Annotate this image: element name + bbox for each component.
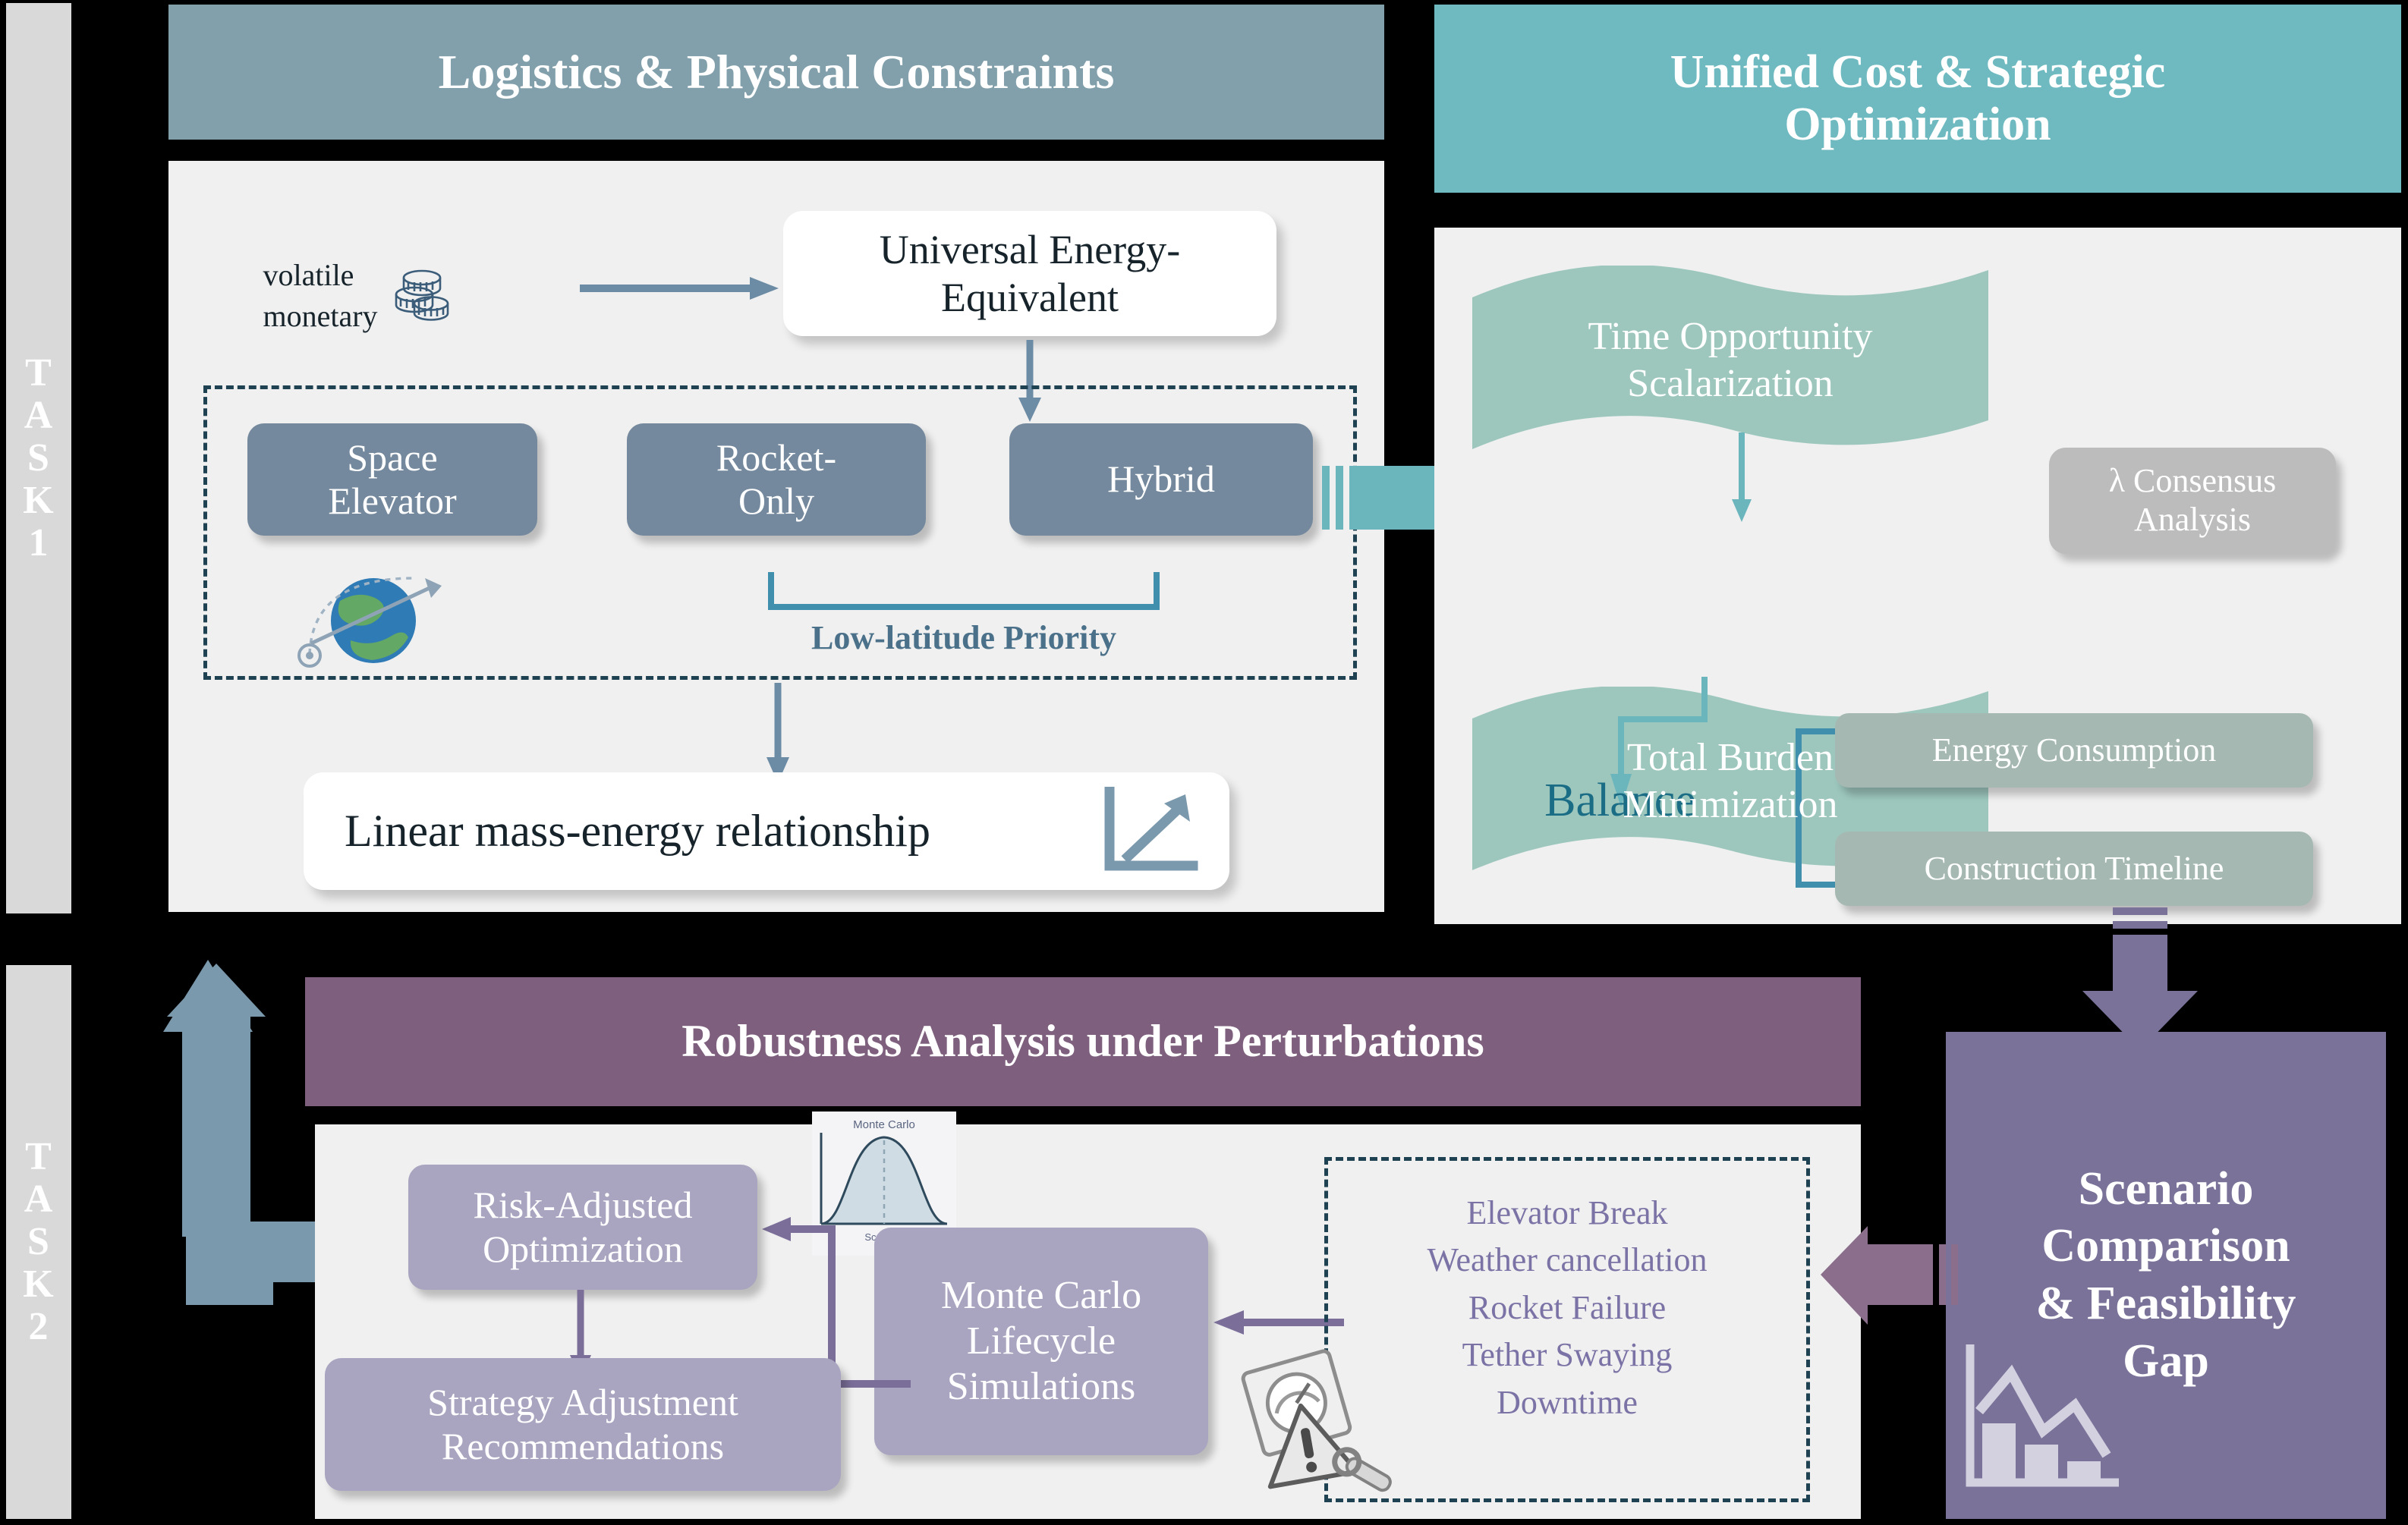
burst-line-2: monetary [263,296,377,337]
task2-to-task1-arrow-shape [163,948,315,1305]
energy-line-2: Equivalent [880,274,1180,321]
consensus-line-2: Analysis [2109,501,2277,539]
scenario-line-3: & Feasibility [2036,1275,2296,1333]
logistics-title: Logistics & Physical Constraints [439,45,1115,99]
option-label-line1: Hybrid [1107,457,1215,502]
task2-letter: K [23,1263,54,1306]
perturbation-item: Tether Swaying [1324,1332,1810,1379]
mc-line-1: Monte Carlo [941,1273,1141,1319]
time-opportunity-banner: Time Opportunity Scalarization [1472,266,1988,455]
coins-stack-icon [387,261,457,331]
scenario-line-1: Scenario [2036,1161,2296,1218]
output-energy-consumption: Energy Consumption [1835,713,2313,788]
task2-rail: T A S K 2 [6,965,71,1519]
task2-letter: T [25,1136,52,1178]
gauge-warning-tools-icon [1229,1343,1396,1506]
banner-line-1: Time Opportunity [1588,313,1872,360]
montecarlo-chart-title: Monte Carlo [853,1118,915,1131]
low-latitude-priority-label: Low-latitude Priority [721,618,1207,657]
output-construction-timeline: Construction Timeline [1835,832,2313,906]
task2-letter: S [27,1221,50,1263]
options-to-result-arrow [759,683,797,785]
option-space-elevator[interactable]: Space Elevator [247,423,537,536]
perturbation-item: Weather cancellation [1324,1237,1810,1284]
mc-line-2: Lifecycle [941,1319,1141,1364]
linear-mass-energy-label: Linear mass-energy relationship [314,805,930,857]
burst-line-1: volatile [263,255,377,296]
task2-letter: A [24,1178,54,1221]
risk-adjusted-optimization-box[interactable]: Risk-Adjusted Optimization [408,1165,757,1290]
lambda-consensus-box: λ Consensus Analysis [2049,448,2336,554]
strategy-line-2: Recommendations [427,1425,738,1469]
option-label-line1: Space [328,436,456,480]
growth-chart-icon [1102,787,1201,876]
output-label: Energy Consumption [1932,731,2216,770]
unified-panel-header: Unified Cost & Strategic Optimization [1434,5,2401,193]
task1-letter: S [27,437,50,480]
option-hybrid[interactable]: Hybrid [1009,423,1313,536]
task1-letter: 1 [29,522,49,564]
unified-to-scenario-arrow [2079,907,2201,1052]
option-label-line2: Elevator [328,480,456,524]
banner-chain-arrow [1723,432,1761,524]
output-label: Construction Timeline [1925,850,2224,888]
earth-satellite-icon [266,548,478,677]
option-label-line2: Only [716,480,836,524]
task2-letter: 2 [29,1306,49,1348]
task1-letter: T [25,352,52,395]
task1-letter: A [24,395,54,437]
logistics-panel-header: Logistics & Physical Constraints [168,5,1384,140]
coins-to-energy-arrow [577,269,782,307]
risk-line-1: Risk-Adjusted [474,1184,693,1228]
option-label-line1: Rocket- [716,436,836,480]
linear-mass-energy-box: Linear mass-energy relationship [304,772,1229,890]
perturbation-item: Rocket Failure [1324,1284,1810,1332]
universal-energy-equivalent-box: Universal Energy- Equivalent [783,211,1276,336]
task1-rail: T A S K 1 [6,3,71,913]
banner-line-2: Minimization [1623,781,1837,829]
low-latitude-bracket [766,571,1161,616]
mc-line-3: Simulations [941,1364,1141,1410]
risk-line-2: Optimization [474,1228,693,1272]
perturbations-list: Elevator Break Weather cancellation Rock… [1324,1190,1810,1426]
scenario-to-perturbations-arrow [1818,1220,1962,1330]
perturbation-item: Elevator Break [1324,1190,1810,1237]
consensus-line-1: λ Consensus [2109,462,2277,501]
banner-line-2: Scalarization [1588,360,1872,407]
perturbation-item: Downtime [1324,1379,1810,1426]
banner-line-1: Total Burden [1623,734,1837,781]
unified-title-line-2: Optimization [1784,99,2051,151]
robustness-title: Robustness Analysis under Perturbations [681,1016,1484,1067]
strategy-adjustment-box[interactable]: Strategy Adjustment Recommendations [325,1358,841,1491]
energy-line-1: Universal Energy- [880,226,1180,273]
task1-letter: K [23,480,54,522]
strategy-line-1: Strategy Adjustment [427,1381,738,1425]
scenario-line-4: Gap [2036,1333,2296,1391]
unified-title-line-1: Unified Cost & Strategic [1670,46,2166,99]
robustness-panel-header: Robustness Analysis under Perturbations [305,977,1861,1106]
option-rocket-only[interactable]: Rocket- Only [627,423,926,536]
scenario-line-2: Comparison [2036,1218,2296,1275]
